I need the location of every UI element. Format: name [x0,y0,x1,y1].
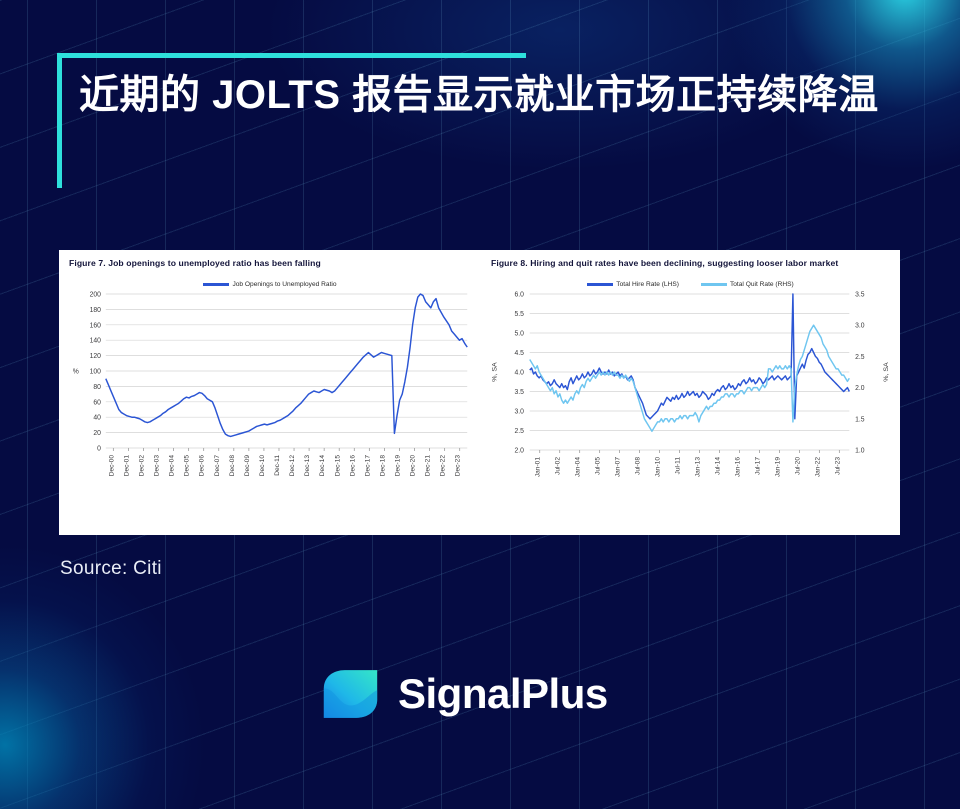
svg-text:Dec-21: Dec-21 [425,455,432,477]
figure-8-legend: Total Hire Rate (LHS) Total Quit Rate (R… [487,278,894,290]
svg-text:Jul-17: Jul-17 [755,457,762,475]
svg-text:2.0: 2.0 [514,448,524,455]
svg-text:Jan-01: Jan-01 [535,457,542,478]
svg-text:3.5: 3.5 [514,389,524,396]
svg-text:100: 100 [90,369,101,376]
svg-text:%: % [73,369,79,376]
figure-7-legend: Job Openings to Unemployed Ratio [65,278,475,290]
brand-name: SignalPlus [398,670,608,718]
svg-text:2.5: 2.5 [855,354,865,361]
svg-text:Dec-10: Dec-10 [259,455,266,477]
svg-text:20: 20 [93,430,101,437]
svg-text:Jul-23: Jul-23 [834,457,841,475]
svg-text:3.0: 3.0 [514,409,524,416]
legend-swatch-icon [701,283,727,285]
svg-text:Dec-09: Dec-09 [244,455,251,477]
svg-text:5.0: 5.0 [514,331,524,338]
figure-8-plot: 2.02.53.03.54.04.55.05.56.01.01.52.02.53… [487,290,894,512]
figure-8-svg: 2.02.53.03.54.04.55.05.56.01.01.52.02.53… [487,290,894,512]
legend-swatch-icon [203,283,229,285]
svg-text:4.0: 4.0 [514,370,524,377]
svg-text:Dec-08: Dec-08 [229,455,236,477]
figure-7-svg: 020406080100120140160180200%Dec-00Dec-01… [65,290,475,510]
figure-7-plot: 020406080100120140160180200%Dec-00Dec-01… [65,290,475,510]
poster-canvas: 近期的 JOLTS 报告显示就业市场正持续降温 Figure 7. Job op… [0,0,960,809]
headline-block: 近期的 JOLTS 报告显示就业市场正持续降温 [57,53,937,124]
figure-7: Figure 7. Job openings to unemployed rat… [59,250,481,535]
svg-text:Dec-20: Dec-20 [410,455,417,477]
svg-text:Dec-07: Dec-07 [214,455,221,477]
svg-text:200: 200 [90,292,101,299]
svg-text:1.0: 1.0 [855,448,865,455]
legend-label: Total Hire Rate (LHS) [616,281,679,288]
figure-8: Figure 8. Hiring and quit rates have bee… [481,250,900,535]
svg-text:80: 80 [93,384,101,391]
figures-panel: Figure 7. Job openings to unemployed rat… [59,250,900,535]
accent-bar-top [57,53,526,58]
legend-label: Total Quit Rate (RHS) [730,281,794,288]
svg-text:3.0: 3.0 [855,323,865,330]
svg-text:160: 160 [90,323,101,330]
svg-text:Dec-03: Dec-03 [154,455,161,477]
legend-item-hire-rate: Total Hire Rate (LHS) [587,281,679,288]
svg-text:Dec-15: Dec-15 [334,455,341,477]
svg-text:3.5: 3.5 [855,292,865,299]
wave-logo-icon [320,663,381,725]
svg-text:%, SA: %, SA [883,362,890,382]
svg-text:Dec-02: Dec-02 [139,455,146,477]
svg-text:Jul-20: Jul-20 [794,457,801,475]
page-title: 近期的 JOLTS 报告显示就业市场正持续降温 [57,53,937,124]
svg-text:4.5: 4.5 [514,350,524,357]
svg-text:Dec-14: Dec-14 [319,455,326,477]
svg-text:Jan-13: Jan-13 [695,457,702,478]
svg-text:40: 40 [93,415,101,422]
svg-text:Jan-22: Jan-22 [814,457,821,478]
figure-7-title: Figure 7. Job openings to unemployed rat… [65,258,475,269]
svg-text:140: 140 [90,338,101,345]
svg-text:Dec-04: Dec-04 [169,455,176,477]
legend-item-job-openings: Job Openings to Unemployed Ratio [203,281,336,288]
svg-text:Jan-10: Jan-10 [655,457,662,478]
accent-bar-left [57,53,62,188]
legend-item-quit-rate: Total Quit Rate (RHS) [701,281,794,288]
svg-text:%, SA: %, SA [492,362,499,382]
svg-text:Jul-05: Jul-05 [595,457,602,475]
svg-text:2.5: 2.5 [514,428,524,435]
svg-text:Jul-11: Jul-11 [675,457,682,475]
svg-text:Dec-01: Dec-01 [124,455,131,477]
svg-text:Jul-14: Jul-14 [715,457,722,475]
svg-text:Dec-12: Dec-12 [289,455,296,477]
svg-text:Dec-05: Dec-05 [184,455,191,477]
svg-text:5.5: 5.5 [514,311,524,318]
source-label: Source: Citi [60,558,162,580]
svg-text:1.5: 1.5 [855,417,865,424]
figure-8-title: Figure 8. Hiring and quit rates have bee… [487,258,894,269]
svg-text:Jan-16: Jan-16 [735,457,742,478]
svg-text:60: 60 [93,400,101,407]
svg-text:2.0: 2.0 [855,385,865,392]
svg-text:Dec-18: Dec-18 [380,455,387,477]
svg-text:Dec-13: Dec-13 [304,455,311,477]
svg-text:Dec-23: Dec-23 [455,455,462,477]
svg-text:Jan-04: Jan-04 [575,457,582,478]
svg-text:Dec-00: Dec-00 [108,455,115,477]
svg-text:0: 0 [97,446,101,453]
svg-text:Dec-16: Dec-16 [349,455,356,477]
svg-text:Jul-02: Jul-02 [555,457,562,475]
svg-text:Dec-06: Dec-06 [199,455,206,477]
svg-text:120: 120 [90,353,101,360]
svg-text:6.0: 6.0 [514,292,524,299]
svg-text:Dec-22: Dec-22 [440,455,447,477]
legend-label: Job Openings to Unemployed Ratio [232,281,336,288]
svg-text:Jul-08: Jul-08 [635,457,642,475]
svg-text:180: 180 [90,307,101,314]
svg-text:Jan-19: Jan-19 [774,457,781,478]
svg-text:Dec-19: Dec-19 [395,455,402,477]
brand-logo: SignalPlus [320,663,608,725]
svg-text:Dec-17: Dec-17 [364,455,371,477]
legend-swatch-icon [587,283,613,285]
svg-text:Dec-11: Dec-11 [274,455,281,476]
svg-text:Jan-07: Jan-07 [615,457,622,478]
